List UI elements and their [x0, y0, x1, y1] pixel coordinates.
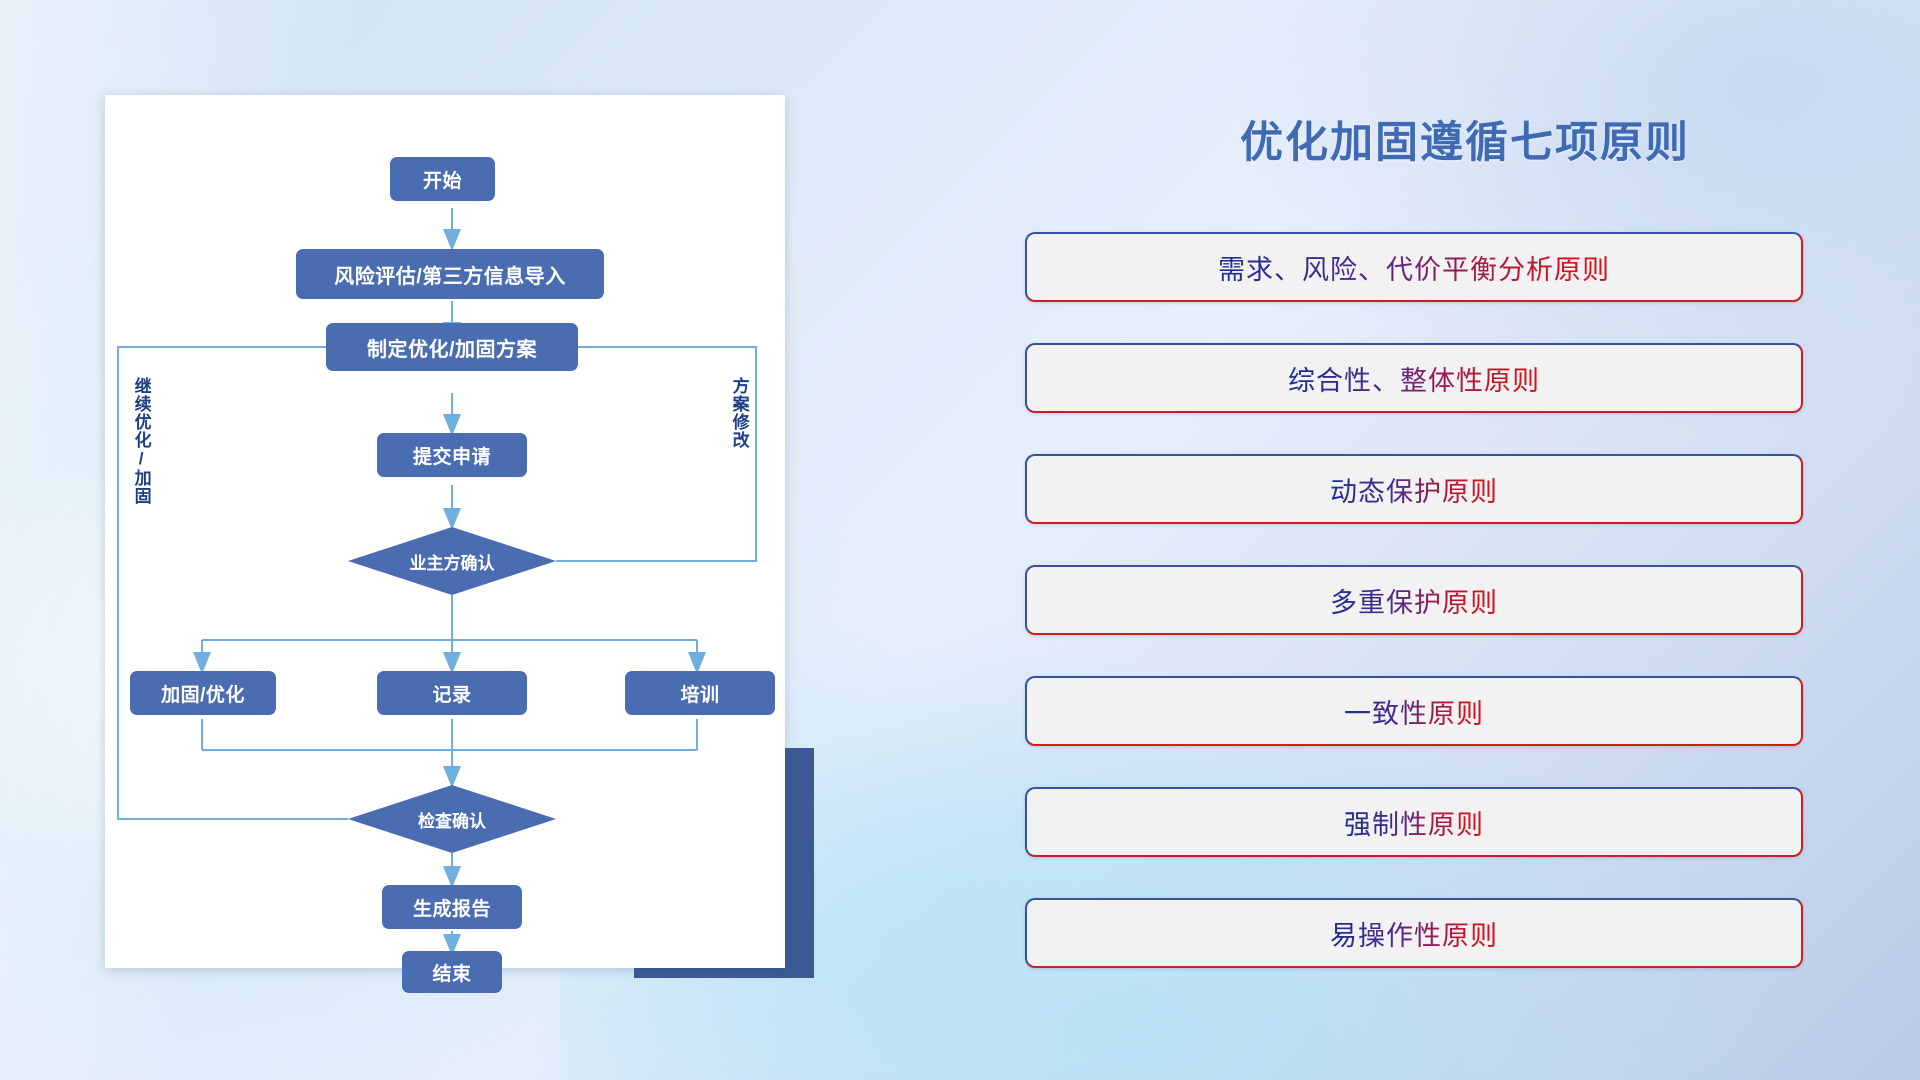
principle-item[interactable]: 需求、风险、代价平衡分析原则 — [1025, 232, 1803, 302]
principle-item[interactable]: 一致性原则 — [1025, 676, 1803, 746]
flow-node-record[interactable]: 记录 — [377, 671, 527, 715]
principle-item[interactable]: 综合性、整体性原则 — [1025, 343, 1803, 413]
flow-node-submit-application[interactable]: 提交申请 — [377, 433, 527, 477]
flow-node-label: 结束 — [432, 959, 471, 986]
flow-node-reinforce-optimize[interactable]: 加固/优化 — [130, 671, 276, 715]
flow-node-label: 加固/优化 — [161, 680, 245, 707]
flowchart-card: 开始 风险评估/第三方信息导入 制定优化/加固方案 提交申请 业主方确认 加固/… — [105, 95, 785, 968]
principle-item[interactable]: 强制性原则 — [1025, 787, 1803, 857]
flow-node-label: 业主方确认 — [410, 549, 495, 574]
flow-node-label: 检查确认 — [418, 807, 486, 832]
principle-label: 多重保护原则 — [1330, 581, 1498, 620]
flow-edge-label-plan-revision: 方案修改 — [730, 377, 748, 497]
flow-decision-owner-confirm[interactable]: 业主方确认 — [362, 547, 542, 575]
principle-label: 强制性原则 — [1344, 803, 1484, 842]
flow-node-end[interactable]: 结束 — [402, 951, 502, 993]
principle-label: 一致性原则 — [1344, 692, 1484, 731]
flow-node-label: 开始 — [423, 166, 462, 193]
principle-label: 易操作性原则 — [1330, 914, 1498, 953]
flow-node-label: 风险评估/第三方信息导入 — [334, 260, 566, 289]
principle-item[interactable]: 易操作性原则 — [1025, 898, 1803, 968]
panel-title: 优化加固遵循七项原则 — [1010, 108, 1920, 170]
principle-label: 综合性、整体性原则 — [1288, 359, 1540, 398]
flow-node-plan[interactable]: 制定优化/加固方案 — [326, 323, 578, 371]
principle-item[interactable]: 多重保护原则 — [1025, 565, 1803, 635]
flow-node-label: 制定优化/加固方案 — [367, 333, 537, 362]
flow-node-label: 提交申请 — [413, 442, 491, 469]
flow-node-label: 培训 — [680, 680, 719, 707]
flow-node-generate-report[interactable]: 生成报告 — [382, 885, 522, 929]
flow-node-label: 生成报告 — [413, 894, 491, 921]
flow-node-training[interactable]: 培训 — [625, 671, 775, 715]
flowchart-connectors — [105, 95, 785, 968]
principle-label: 需求、风险、代价平衡分析原则 — [1218, 248, 1610, 287]
flow-node-risk-assessment[interactable]: 风险评估/第三方信息导入 — [296, 249, 604, 299]
principle-item[interactable]: 动态保护原则 — [1025, 454, 1803, 524]
principle-label: 动态保护原则 — [1330, 470, 1498, 509]
flow-edge-label-continue-optimize: 继续优化/加固 — [132, 377, 150, 547]
flow-node-label: 记录 — [432, 680, 471, 707]
flow-decision-inspection-confirm[interactable]: 检查确认 — [362, 805, 542, 833]
flow-node-start[interactable]: 开始 — [390, 157, 495, 201]
principles-panel: 优化加固遵循七项原则 需求、风险、代价平衡分析原则 综合性、整体性原则 动态保护… — [1010, 0, 1920, 1080]
